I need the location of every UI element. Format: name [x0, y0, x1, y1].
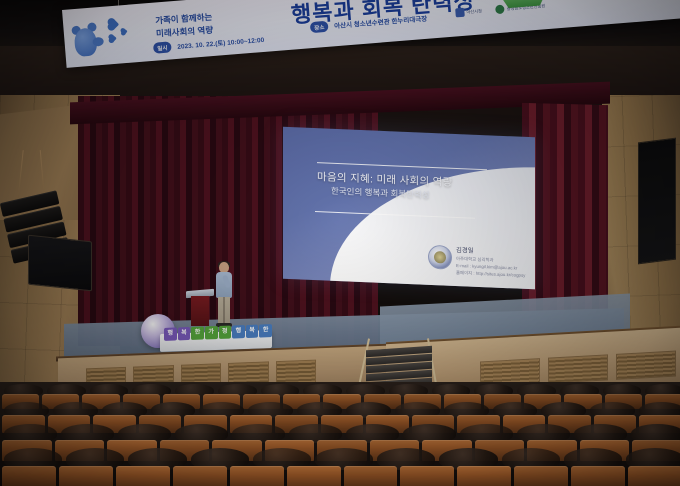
banner-place-tag: 장소	[310, 21, 329, 33]
lectern	[188, 290, 212, 326]
auditorium-seat	[400, 466, 454, 486]
audience-seat-row	[0, 466, 680, 486]
letter-block: 한	[259, 324, 272, 337]
auditorium-seat	[457, 466, 511, 486]
auditorium-seat	[116, 466, 170, 486]
right-wall-monitor	[638, 138, 676, 265]
letter-block: 행	[232, 325, 245, 338]
sponsor-logo-1: 아산시청	[455, 6, 482, 17]
lectern-body	[191, 296, 209, 326]
auditorium-seat	[628, 466, 680, 486]
origami-boat-icon	[499, 0, 548, 13]
auditorium-seat	[173, 466, 227, 486]
presentation-slide: 마음의 지혜: 미래 사회의 역량 한국인의 행복과 회복탄력성 김경일 아주대…	[283, 127, 535, 290]
heart-icon	[108, 19, 119, 30]
heart-icon	[121, 28, 127, 34]
projection-screen: 마음의 지혜: 미래 사회의 역량 한국인의 행복과 회복탄력성 김경일 아주대…	[283, 127, 535, 290]
auditorium-seat	[59, 466, 113, 486]
blue-bear-icon	[69, 17, 106, 60]
university-emblem-icon	[428, 245, 452, 270]
letter-block: 복	[178, 327, 191, 340]
audience-area	[0, 382, 680, 486]
wall-mounted-monitor	[28, 235, 92, 292]
auditorium-photo: 마음의 지혜: 미래 사회의 역량 한국인의 행복과 회복탄력성 김경일 아주대…	[0, 0, 680, 486]
letter-block: 정	[219, 326, 232, 339]
slide-divider-top	[317, 162, 487, 170]
auditorium-seat	[571, 466, 625, 486]
letter-block: 가	[205, 326, 218, 339]
auditorium-seat	[514, 466, 568, 486]
letter-block: 행	[164, 327, 177, 340]
letter-block: 한	[191, 326, 204, 339]
sponsor-mark-icon	[455, 8, 465, 18]
presenter-legs	[218, 297, 230, 324]
letter-block: 복	[246, 325, 259, 338]
sponsor-logo-text: 아산시청	[466, 8, 482, 15]
auditorium-seat	[230, 466, 284, 486]
auditorium-seat	[2, 466, 56, 486]
slide-presenter-block: 김경일 아주대학교 심리학과 E-mail : kyungil.kim@ajou…	[456, 246, 530, 280]
banner-subtitle: 가족이 함께하는 미래사회의 역량	[155, 5, 296, 40]
heart-icon	[109, 35, 117, 43]
banner-date-tag: 일시	[153, 41, 172, 53]
presenter-on-stage	[214, 262, 234, 328]
auditorium-seat	[287, 466, 341, 486]
auditorium-seat	[344, 466, 398, 486]
